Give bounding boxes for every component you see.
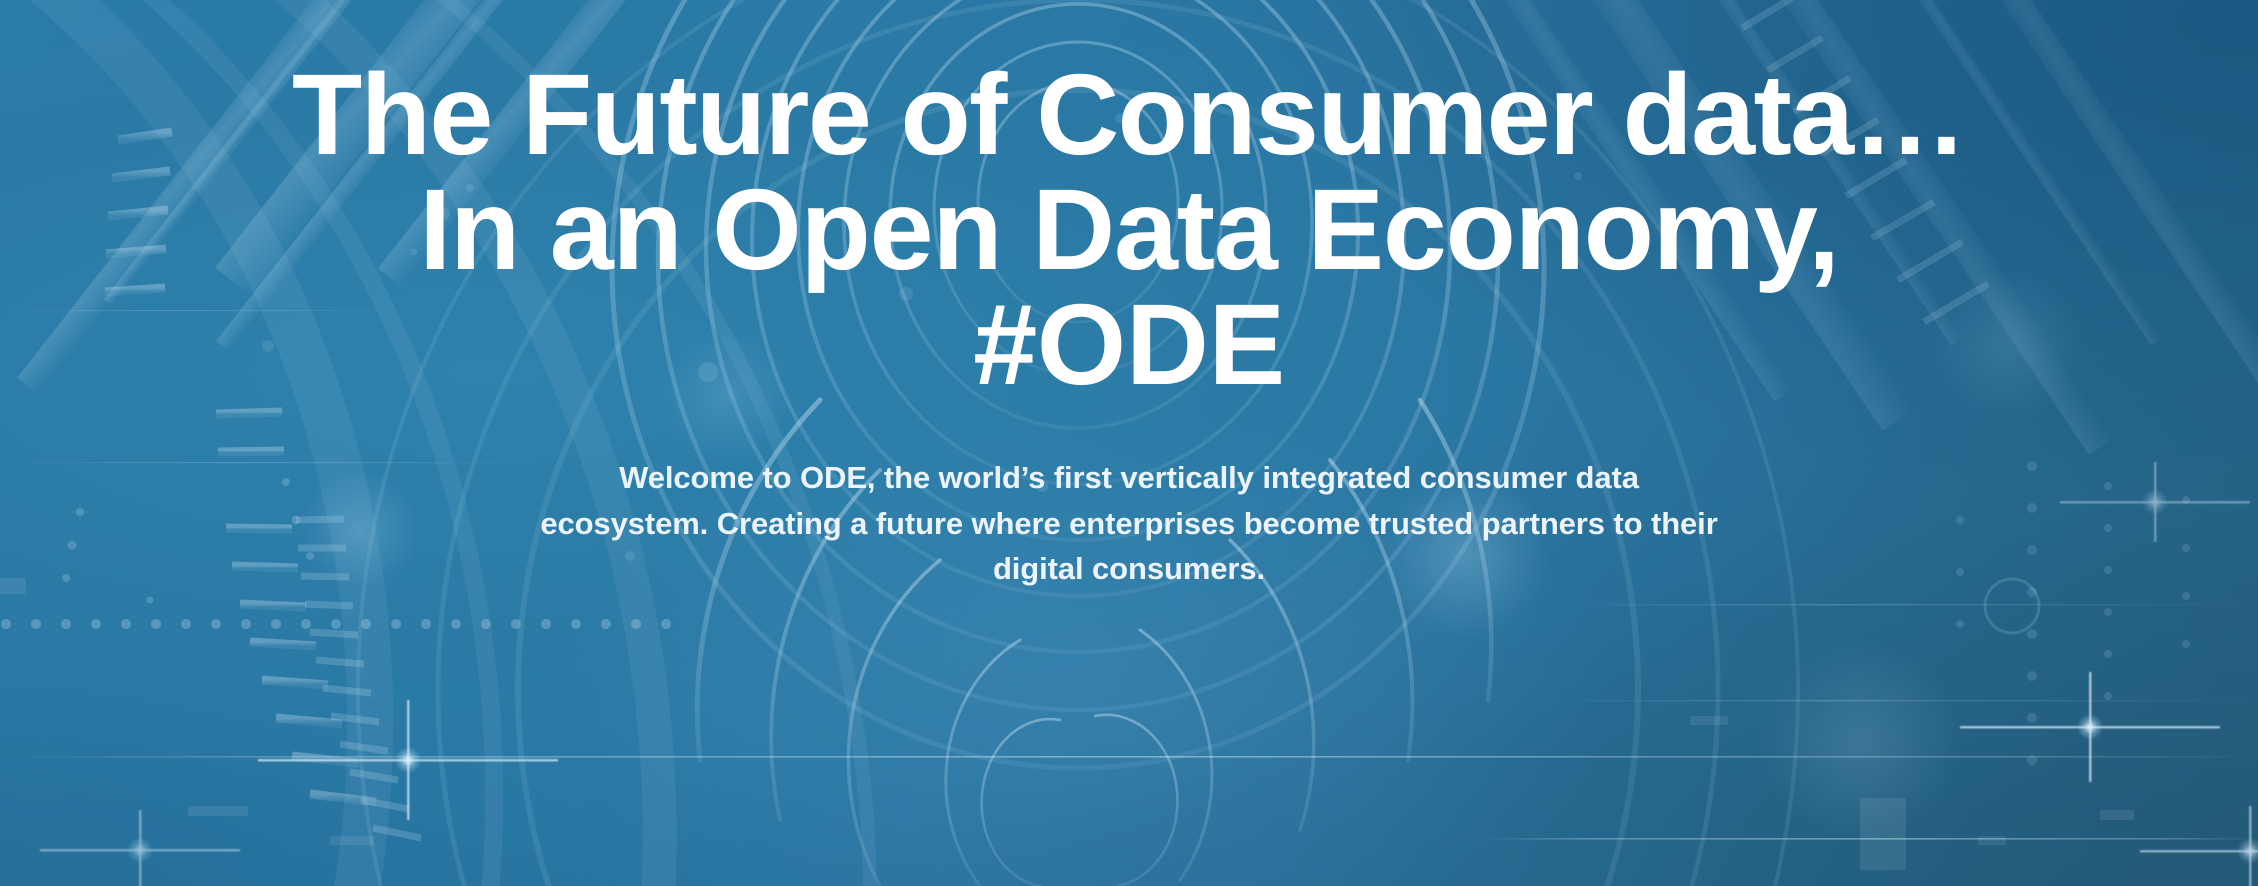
hero-content: The Future of Consumer data… In an Open …: [0, 0, 2258, 886]
hero-banner: The Future of Consumer data… In an Open …: [0, 0, 2258, 886]
page-title-line-1: The Future of Consumer data…: [64, 58, 2194, 173]
hero-subcopy: Welcome to ODE, the world’s first vertic…: [539, 455, 1719, 592]
page-title-line-3: #ODE: [64, 288, 2194, 403]
page-title-line-2: In an Open Data Economy,: [64, 173, 2194, 288]
page-title: The Future of Consumer data… In an Open …: [64, 58, 2194, 403]
